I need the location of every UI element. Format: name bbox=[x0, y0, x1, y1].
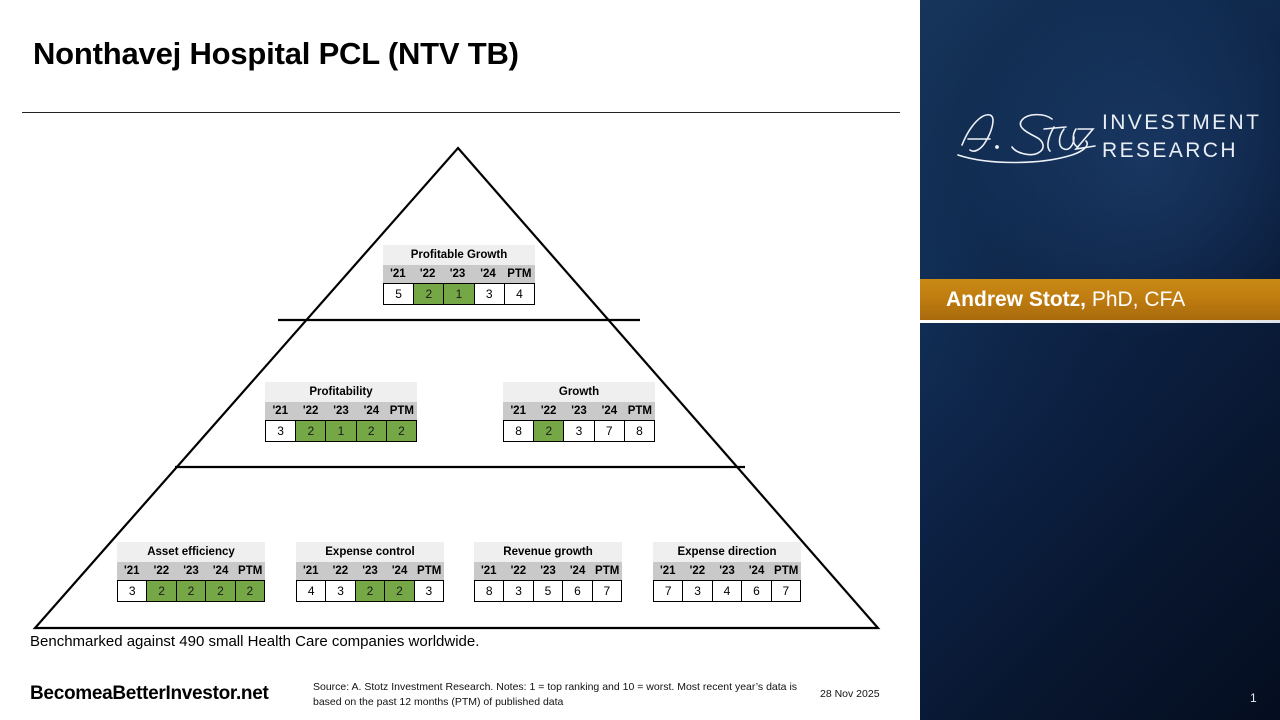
year-label: '23 bbox=[443, 265, 473, 283]
year-label: PTM bbox=[592, 562, 622, 580]
year-label: PTM bbox=[414, 562, 444, 580]
year-label: '21 bbox=[117, 562, 147, 580]
rank-cell: 6 bbox=[562, 580, 592, 602]
metric-box-expense-control[interactable]: Expense control '21 '22 '23 '24 PTM 4 3 … bbox=[296, 542, 444, 602]
metric-title: Revenue growth bbox=[474, 542, 622, 562]
metric-box-growth[interactable]: Growth '21 '22 '23 '24 PTM 8 2 3 7 8 bbox=[503, 382, 655, 442]
metric-title: Asset efficiency bbox=[117, 542, 265, 562]
metric-box-expense-direction[interactable]: Expense direction '21 '22 '23 '24 PTM 7 … bbox=[653, 542, 801, 602]
year-label: '24 bbox=[563, 562, 593, 580]
year-label: PTM bbox=[504, 265, 535, 283]
year-label: '24 bbox=[472, 265, 503, 283]
year-label: '21 bbox=[503, 402, 533, 420]
rank-cell: 2 bbox=[384, 580, 414, 602]
astotz-signature-icon bbox=[948, 101, 1103, 171]
logo-word-line2: RESEARCH bbox=[1102, 137, 1261, 165]
year-label: '22 bbox=[326, 562, 356, 580]
rank-cell: 2 bbox=[386, 420, 417, 442]
year-label: '23 bbox=[176, 562, 206, 580]
year-label: '23 bbox=[533, 562, 563, 580]
metric-year-header: '21 '22 '23 '24 PTM bbox=[265, 402, 417, 420]
rank-cell: 4 bbox=[504, 283, 535, 305]
year-label: '21 bbox=[296, 562, 326, 580]
metric-year-header: '21 '22 '23 '24 PTM bbox=[474, 562, 622, 580]
metric-title: Expense direction bbox=[653, 542, 801, 562]
rank-cell: 2 bbox=[356, 420, 387, 442]
rank-cell: 4 bbox=[712, 580, 742, 602]
year-label: '23 bbox=[326, 402, 356, 420]
metric-year-header: '21 '22 '23 '24 PTM bbox=[117, 562, 265, 580]
year-label: '24 bbox=[206, 562, 236, 580]
year-label: '24 bbox=[594, 402, 624, 420]
rank-cell: 3 bbox=[503, 580, 533, 602]
year-label: PTM bbox=[625, 402, 655, 420]
year-label: '23 bbox=[712, 562, 742, 580]
footer-website[interactable]: BecomeaBetterInvestor.net bbox=[30, 683, 269, 705]
page-number: 1 bbox=[1250, 691, 1257, 705]
presenter-name-text: Andrew Stotz, PhD, CFA bbox=[920, 288, 1185, 312]
metric-title: Growth bbox=[503, 382, 655, 402]
rank-cell: 3 bbox=[563, 420, 594, 442]
footer-source-note: Source: A. Stotz Investment Research. No… bbox=[313, 680, 813, 710]
rank-cell: 7 bbox=[594, 420, 625, 442]
year-label: '21 bbox=[474, 562, 504, 580]
rank-cell: 3 bbox=[265, 420, 296, 442]
metric-box-revenue-growth[interactable]: Revenue growth '21 '22 '23 '24 PTM 8 3 5… bbox=[474, 542, 622, 602]
rank-cell: 8 bbox=[474, 580, 504, 602]
rank-cell: 8 bbox=[624, 420, 655, 442]
metric-values-row: 8 2 3 7 8 bbox=[503, 420, 655, 442]
benchmark-note: Benchmarked against 490 small Health Car… bbox=[30, 633, 479, 650]
year-label: '22 bbox=[683, 562, 713, 580]
rank-cell: 2 bbox=[205, 580, 235, 602]
presenter-name-banner: Andrew Stotz, PhD, CFA bbox=[920, 279, 1280, 320]
metric-title: Expense control bbox=[296, 542, 444, 562]
rank-cell: 2 bbox=[235, 580, 265, 602]
year-label: '24 bbox=[356, 402, 386, 420]
rank-cell: 6 bbox=[741, 580, 771, 602]
footer-date: 28 Nov 2025 bbox=[820, 688, 880, 700]
rank-cell: 5 bbox=[383, 283, 414, 305]
rank-cell: 7 bbox=[771, 580, 801, 602]
year-label: '21 bbox=[265, 402, 295, 420]
year-label: PTM bbox=[387, 402, 417, 420]
logo-word-line1: INVESTMENT bbox=[1102, 109, 1261, 137]
year-label: '21 bbox=[653, 562, 683, 580]
rank-cell: 2 bbox=[176, 580, 206, 602]
metric-box-asset-efficiency[interactable]: Asset efficiency '21 '22 '23 '24 PTM 3 2… bbox=[117, 542, 265, 602]
rank-cell: 3 bbox=[414, 580, 444, 602]
rank-cell: 4 bbox=[296, 580, 326, 602]
year-label: '24 bbox=[385, 562, 415, 580]
year-label: '22 bbox=[147, 562, 177, 580]
presenter-name: Andrew Stotz, bbox=[946, 288, 1086, 311]
metric-year-header: '21 '22 '23 '24 PTM bbox=[653, 562, 801, 580]
year-label: '21 bbox=[383, 265, 413, 283]
rank-cell: 1 bbox=[443, 283, 474, 305]
metric-box-profitability[interactable]: Profitability '21 '22 '23 '24 PTM 3 2 1 … bbox=[265, 382, 417, 442]
metric-title: Profitable Growth bbox=[383, 245, 535, 265]
rank-cell: 8 bbox=[503, 420, 534, 442]
rank-cell: 2 bbox=[413, 283, 444, 305]
rank-cell: 5 bbox=[533, 580, 563, 602]
rank-cell: 2 bbox=[355, 580, 385, 602]
rank-cell: 7 bbox=[592, 580, 622, 602]
sidebar-panel: INVESTMENT RESEARCH bbox=[920, 0, 1280, 720]
astotz-logo: INVESTMENT RESEARCH bbox=[920, 95, 1280, 185]
rank-cell: 7 bbox=[653, 580, 683, 602]
metric-box-profitable-growth[interactable]: Profitable Growth '21 '22 '23 '24 PTM 5 … bbox=[383, 245, 535, 305]
metric-year-header: '21 '22 '23 '24 PTM bbox=[296, 562, 444, 580]
metric-values-row: 8 3 5 6 7 bbox=[474, 580, 622, 602]
rank-cell: 2 bbox=[295, 420, 326, 442]
presenter-credentials: PhD, CFA bbox=[1086, 288, 1185, 311]
logo-wordmark: INVESTMENT RESEARCH bbox=[1102, 109, 1261, 164]
metric-title: Profitability bbox=[265, 382, 417, 402]
metric-values-row: 7 3 4 6 7 bbox=[653, 580, 801, 602]
rank-cell: 3 bbox=[325, 580, 355, 602]
year-label: '24 bbox=[742, 562, 772, 580]
year-label: '23 bbox=[564, 402, 594, 420]
metric-year-header: '21 '22 '23 '24 PTM bbox=[383, 265, 535, 283]
metric-values-row: 4 3 2 2 3 bbox=[296, 580, 444, 602]
year-label: PTM bbox=[235, 562, 265, 580]
year-label: PTM bbox=[771, 562, 801, 580]
rank-cell: 2 bbox=[533, 420, 564, 442]
rank-cell: 2 bbox=[146, 580, 176, 602]
metric-year-header: '21 '22 '23 '24 PTM bbox=[503, 402, 655, 420]
year-label: '22 bbox=[413, 265, 443, 283]
rank-cell: 3 bbox=[474, 283, 505, 305]
metric-values-row: 5 2 1 3 4 bbox=[383, 283, 535, 305]
year-label: '22 bbox=[533, 402, 563, 420]
rank-cell: 3 bbox=[117, 580, 147, 602]
slide-root: Nonthavej Hospital PCL (NTV TB) Profitab… bbox=[0, 0, 1280, 720]
rank-cell: 3 bbox=[682, 580, 712, 602]
year-label: '22 bbox=[504, 562, 534, 580]
rank-cell: 1 bbox=[325, 420, 356, 442]
metric-values-row: 3 2 1 2 2 bbox=[265, 420, 417, 442]
year-label: '23 bbox=[355, 562, 385, 580]
year-label: '22 bbox=[295, 402, 325, 420]
main-content-area: Nonthavej Hospital PCL (NTV TB) Profitab… bbox=[0, 0, 920, 720]
metric-values-row: 3 2 2 2 2 bbox=[117, 580, 265, 602]
presenter-banner-underline bbox=[920, 320, 1280, 323]
